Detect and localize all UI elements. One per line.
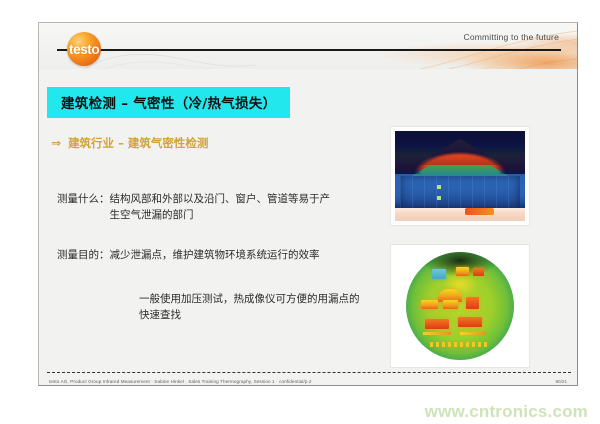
header-divider-line xyxy=(57,49,561,51)
ir-foundation-dots xyxy=(430,342,490,347)
ir-window xyxy=(466,297,479,309)
slide-subtitle-label: 建筑行业 – 建筑气密性检测 xyxy=(68,135,208,151)
paragraph-text: 减少泄漏点，维护建筑物环境系统运行的效率 xyxy=(110,247,340,263)
header-decorative-swirl xyxy=(289,23,578,69)
ir-building-gradient xyxy=(395,131,525,221)
paragraph-label: 测量什么： xyxy=(57,191,110,207)
site-watermark: www.cntronics.com xyxy=(425,402,588,422)
footer-page-number: 90/21 xyxy=(556,379,568,384)
ir-circular-field xyxy=(406,252,514,360)
ir-sill-band xyxy=(423,332,451,335)
footer-divider xyxy=(47,372,571,373)
slide-subtitle: ⇒ 建筑行业 – 建筑气密性检测 xyxy=(51,135,208,151)
arrow-right-icon: ⇒ xyxy=(51,137,61,149)
ir-sill-band xyxy=(460,332,486,335)
ir-spot-marker xyxy=(437,196,441,200)
paragraph-label: 测量目的： xyxy=(57,247,110,263)
paragraph-text: 结构风部和外部以及沿门、窗户、管道等易于产生空气泄漏的部门 xyxy=(110,191,340,223)
footer-text: testo AG, Product Group Infrared Measure… xyxy=(49,379,312,384)
slide-body: 建筑检测 – 气密性（冷/热气损失） ⇒ 建筑行业 – 建筑气密性检测 测量什么… xyxy=(39,69,578,386)
thermal-image-canvas xyxy=(395,249,525,363)
logo-wordmark: testo xyxy=(69,42,125,57)
page-title: 建筑检测 – 气密性（冷/热气损失） xyxy=(47,87,290,118)
testo-logo[interactable]: testo xyxy=(61,31,125,69)
ir-window xyxy=(443,300,458,310)
slide-root: testo Committing to the future 建筑检测 – 气密… xyxy=(0,0,600,424)
thermal-image-house-circular[interactable] xyxy=(391,245,529,367)
ir-hot-spot xyxy=(465,208,494,215)
ir-wall-cold-region xyxy=(400,176,520,208)
paragraph-what-to-measure: 测量什么： 结构风部和外部以及沿门、窗户、管道等易于产生空气泄漏的部门 xyxy=(57,191,340,223)
ir-ground-region xyxy=(395,208,525,221)
slide-page: testo Committing to the future 建筑检测 – 气密… xyxy=(38,22,578,386)
ir-window xyxy=(421,300,438,310)
ir-window xyxy=(473,268,484,276)
header-tagline: Committing to the future xyxy=(463,32,559,42)
ir-window xyxy=(456,267,469,276)
paragraph-note: 一般使用加压测试，热成像仪可方便的用漏点的快速查找 xyxy=(139,291,369,323)
ir-window xyxy=(458,317,482,327)
ir-window xyxy=(425,319,449,329)
ir-spot-marker xyxy=(437,185,441,189)
ir-roof-hotband xyxy=(418,138,501,165)
paragraph-purpose: 测量目的： 减少泄漏点，维护建筑物环境系统运行的效率 xyxy=(57,247,340,263)
thermal-image-canvas xyxy=(395,131,525,221)
thermal-image-building-facade[interactable] xyxy=(391,127,529,225)
slide-header: testo Committing to the future xyxy=(39,23,578,69)
ir-window xyxy=(432,269,446,279)
